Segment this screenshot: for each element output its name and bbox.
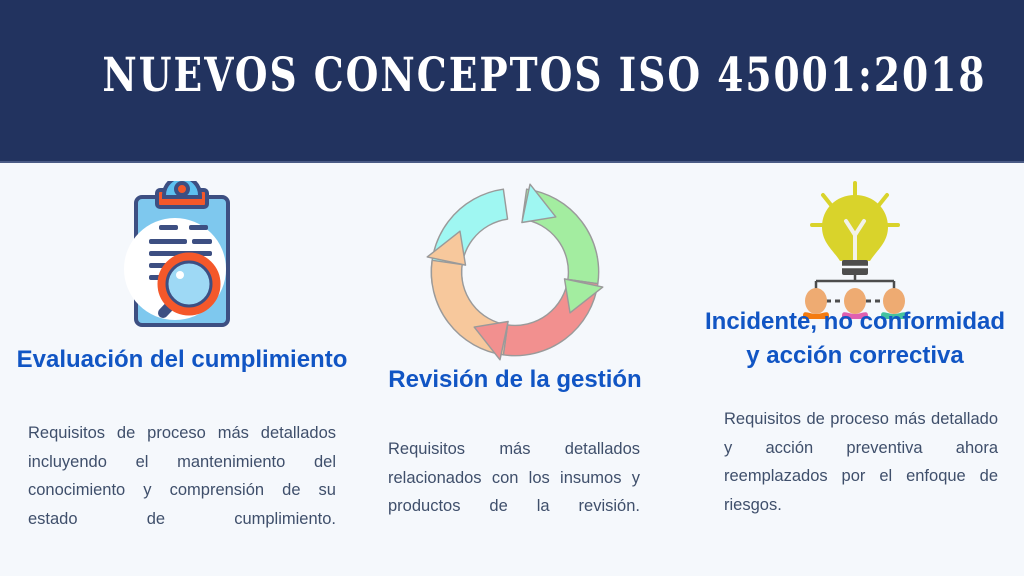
cycle-arrows-icon	[423, 183, 607, 361]
concept-body-3: Requisitos de proceso más detallado y ac…	[700, 405, 1010, 548]
icon-container-1	[14, 181, 350, 336]
concept-column-revision: Revisión de la gestión Requisitos más de…	[360, 163, 670, 576]
concept-heading-3: Incidente, no conformidad y acción corre…	[700, 305, 1010, 373]
header-band: NUEVOS CONCEPTOS ISO 45001:2018	[0, 0, 1024, 163]
concept-column-evaluacion: Evaluación del cumplimiento Requisitos d…	[14, 163, 350, 576]
concept-body-2: Requisitos más detallados relacionados c…	[360, 435, 670, 549]
concept-column-incidente: Incidente, no conformidad y acción corre…	[700, 163, 1010, 576]
icon-container-2	[360, 183, 670, 363]
content-columns: Evaluación del cumplimiento Requisitos d…	[0, 163, 1024, 576]
concept-heading-1: Evaluación del cumplimiento	[14, 343, 350, 377]
concept-body-1: Requisitos de proceso más detallados inc…	[14, 419, 350, 562]
clipboard-magnifier-icon	[123, 181, 241, 333]
icon-container-3	[700, 181, 1010, 321]
lightbulb-team-icon	[790, 181, 920, 319]
page-title: NUEVOS CONCEPTOS ISO 45001:2018	[102, 48, 921, 104]
infographic-slide: NUEVOS CONCEPTOS ISO 45001:2018	[0, 0, 1024, 576]
concept-heading-2: Revisión de la gestión	[360, 363, 670, 397]
